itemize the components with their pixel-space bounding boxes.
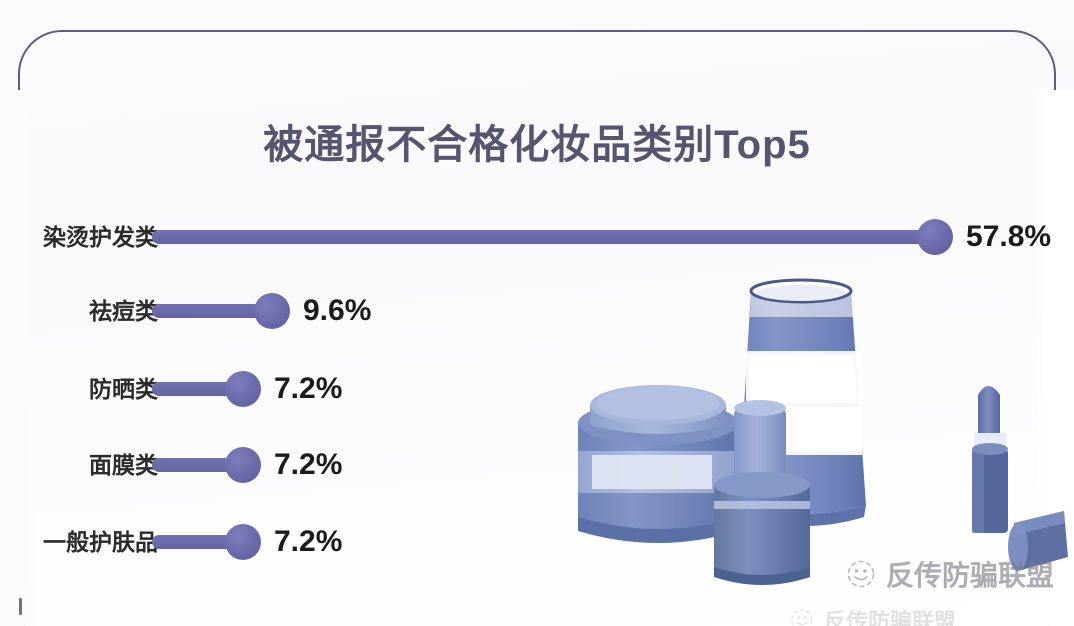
bar-end-dot-4 [225,524,261,560]
watermark-secondary: 反传防骗联盟 [790,604,956,626]
category-label-2: 防晒类 [0,365,158,413]
watermark-text: 反传防骗联盟 [824,604,956,626]
watermark-main: 反传防骗联盟 [846,554,1054,594]
category-label-4: 一般护肤品 [0,518,158,566]
category-label-0: 染烫护发类 [0,213,158,261]
infographic-canvas: 被通报不合格化妆品类别Top5 [0,0,1074,626]
category-label-1: 祛痘类 [0,287,158,335]
value-label-3: 7.2% [274,441,342,489]
table-row: 防晒类 7.2% [0,365,1074,413]
chart-area: 染烫护发类 57.8% 祛痘类 9.6% 防晒类 7.2% 面膜类 7.2% [0,196,1074,586]
table-row: 染烫护发类 57.8% [0,213,1074,261]
frame-corner-mark [19,598,22,615]
table-row: 面膜类 7.2% [0,441,1074,489]
value-label-2: 7.2% [274,365,342,413]
smiley-circle-logo-icon [846,559,876,589]
smiley-circle-logo-icon [790,608,814,626]
watermark-text: 反传防骗联盟 [886,554,1054,594]
bar-0 [152,230,935,244]
value-label-1: 9.6% [303,287,371,335]
bar-end-dot-1 [254,293,290,329]
bar-end-dot-0 [917,219,953,255]
value-label-0: 57.8% [966,213,1051,261]
category-label-3: 面膜类 [0,441,158,489]
value-label-4: 7.2% [274,518,342,566]
table-row: 祛痘类 9.6% [0,287,1074,335]
page-title: 被通报不合格化妆品类别Top5 [0,112,1074,170]
bar-end-dot-2 [225,371,261,407]
bar-end-dot-3 [225,447,261,483]
